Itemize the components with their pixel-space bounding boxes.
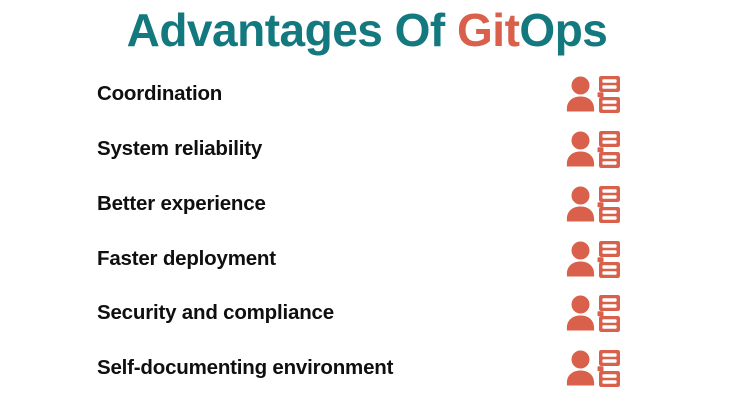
advantages-list: Coordination <box>0 68 734 398</box>
list-item-label: Coordination <box>97 82 222 106</box>
list-item[interactable]: Faster deployment <box>97 239 637 279</box>
slide-canvas: Advantages Of GitOps Coordination <box>0 0 734 409</box>
user-server-icon <box>566 349 621 387</box>
list-item-label: System reliability <box>97 137 262 161</box>
user-server-icon <box>566 294 621 332</box>
page-title-part1: Advantages Of <box>127 4 457 56</box>
list-item[interactable]: Coordination <box>97 74 637 114</box>
user-server-icon <box>566 185 621 223</box>
user-server-icon <box>566 75 621 113</box>
user-server-icon <box>566 240 621 278</box>
list-item[interactable]: Security and compliance <box>97 293 637 333</box>
list-item[interactable]: Self-documenting environment <box>97 348 637 388</box>
user-server-icon <box>566 130 621 168</box>
list-item-label: Self-documenting environment <box>97 356 393 380</box>
list-item[interactable]: Better experience <box>97 184 637 224</box>
list-item-label: Better experience <box>97 192 266 216</box>
page-title-accent: Git <box>457 4 519 56</box>
list-item-label: Faster deployment <box>97 247 276 271</box>
list-item[interactable]: System reliability <box>97 129 637 169</box>
page-title-part2: Ops <box>519 4 607 56</box>
list-item-label: Security and compliance <box>97 301 334 325</box>
page-title: Advantages Of GitOps <box>0 4 734 56</box>
